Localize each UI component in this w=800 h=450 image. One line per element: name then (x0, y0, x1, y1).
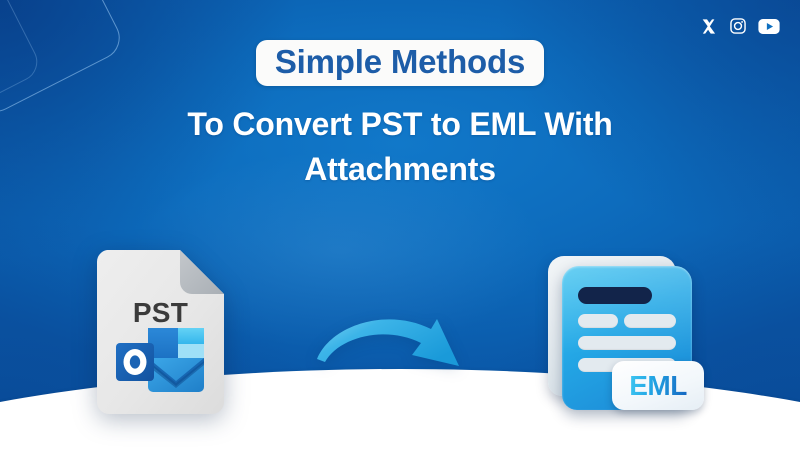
eml-content-bar (578, 314, 618, 328)
outlook-logo (114, 325, 211, 398)
page-title-badge: Simple Methods (256, 40, 544, 86)
pst-file-icon: PST (97, 250, 224, 414)
eml-format-badge-label: EML (629, 370, 687, 402)
eml-header-bar (578, 287, 652, 304)
instagram-icon[interactable] (729, 17, 747, 35)
page-subtitle: To Convert PST to EML With Attachments (0, 102, 800, 193)
eml-file-icon: EML (548, 256, 706, 416)
hero-text-block: Simple Methods To Convert PST to EML Wit… (0, 40, 800, 193)
youtube-icon[interactable] (758, 18, 780, 35)
thumbnail-canvas: Simple Methods To Convert PST to EML Wit… (0, 0, 800, 450)
eml-content-bar (624, 314, 676, 328)
eml-content-bar (578, 336, 676, 350)
eml-format-badge: EML (612, 361, 704, 410)
x-twitter-icon[interactable] (701, 18, 718, 35)
social-icon-row (701, 17, 780, 35)
curved-arrow-icon (313, 309, 493, 381)
